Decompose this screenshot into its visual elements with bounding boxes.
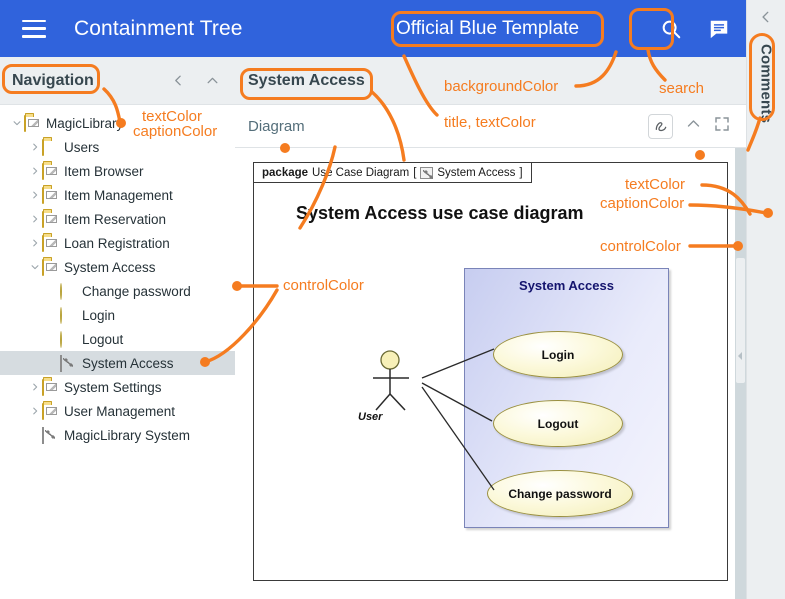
- actor-user-icon[interactable]: [369, 348, 425, 418]
- chevron-right-icon[interactable]: [28, 188, 42, 202]
- chevron-down-icon[interactable]: [28, 260, 42, 274]
- diagram-frame-header: package Use Case Diagram [ System Access…: [254, 163, 532, 183]
- chevron-right-icon[interactable]: [28, 404, 42, 418]
- annotation-label: captionColor: [600, 195, 684, 212]
- tree-item[interactable]: Item Browser: [0, 159, 235, 183]
- tree-item[interactable]: System Access: [0, 351, 235, 375]
- frame-type: Use Case Diagram: [312, 167, 409, 179]
- tree-item-label: Logout: [82, 332, 123, 347]
- tree-item-label: System Access: [82, 356, 174, 371]
- containment-tree[interactable]: MagicLibraryUsersItem BrowserItem Manage…: [0, 105, 235, 447]
- actor-label: User: [358, 411, 382, 423]
- chevron-right-icon[interactable]: [28, 380, 42, 394]
- chevron-right-icon[interactable]: [28, 236, 42, 250]
- diagram-heading: System Access use case diagram: [296, 203, 584, 224]
- chevron-up-icon[interactable]: [199, 68, 225, 94]
- use-case-ellipse[interactable]: Logout: [493, 400, 623, 447]
- scribble-pen-icon[interactable]: [648, 114, 673, 139]
- diagram-icon: [42, 428, 59, 443]
- app-root: Containment Tree Official Blue Template: [0, 0, 785, 599]
- chevron-right-icon[interactable]: [28, 212, 42, 226]
- tree-item[interactable]: Change password: [0, 279, 235, 303]
- pill-search: [629, 8, 674, 50]
- annotation-label: controlColor: [600, 238, 681, 255]
- tree-item-label: Item Management: [64, 188, 173, 203]
- tree-item[interactable]: Login: [0, 303, 235, 327]
- comment-bubble-icon[interactable]: [702, 12, 736, 46]
- tree-item-label: System Access: [64, 260, 156, 275]
- tree-item[interactable]: System Settings: [0, 375, 235, 399]
- package-folder-icon: [42, 212, 59, 227]
- frame-name: System Access: [437, 167, 515, 179]
- tree-item[interactable]: Loan Registration: [0, 231, 235, 255]
- package-folder-icon: [42, 380, 59, 395]
- tree-item-label: MagicLibrary System: [64, 428, 190, 443]
- chevron-left-icon[interactable]: [165, 68, 191, 94]
- frame-bracket-close: ]: [519, 167, 522, 179]
- tree-spacer: [46, 308, 60, 322]
- tree-spacer: [46, 356, 60, 370]
- package-folder-icon: [42, 236, 59, 251]
- tree-item-label: Login: [82, 308, 115, 323]
- use-case-ellipse[interactable]: Change password: [487, 470, 633, 517]
- tree-item[interactable]: User Management: [0, 399, 235, 423]
- fullscreen-icon[interactable]: [714, 116, 730, 137]
- tree-item[interactable]: Item Management: [0, 183, 235, 207]
- tree-item-label: Item Browser: [64, 164, 144, 179]
- diagram-panel: System Access Diagram: [235, 57, 746, 599]
- annotation-label: controlColor: [283, 277, 364, 294]
- pill-system-access: [240, 68, 373, 100]
- diagram-scrollbar[interactable]: [735, 148, 746, 599]
- collapse-arrow-icon[interactable]: [737, 348, 744, 366]
- tree-item[interactable]: Item Reservation: [0, 207, 235, 231]
- package-folder-icon: [42, 404, 59, 419]
- use-case-icon: [60, 308, 77, 323]
- use-case-ellipse[interactable]: Login: [493, 331, 623, 378]
- page-title: Containment Tree: [74, 17, 243, 41]
- tree-item[interactable]: System Access: [0, 255, 235, 279]
- chevron-up-icon[interactable]: [686, 116, 701, 136]
- tree-item-label: Item Reservation: [64, 212, 166, 227]
- frame-bracket-open: [: [413, 167, 416, 179]
- frame-keyword: package: [262, 167, 308, 179]
- tree-item-label: User Management: [64, 404, 175, 419]
- chevron-down-icon[interactable]: [10, 116, 24, 130]
- tree-spacer: [28, 428, 42, 442]
- chevron-right-icon[interactable]: [28, 164, 42, 178]
- pill-comments: [749, 33, 775, 121]
- pill-navigation: [2, 64, 100, 94]
- tree-item-label: System Settings: [64, 380, 162, 395]
- annotation-label: title, textColor: [444, 114, 536, 131]
- tree-item[interactable]: MagicLibrary System: [0, 423, 235, 447]
- tree-item[interactable]: Logout: [0, 327, 235, 351]
- system-boundary-title: System Access: [465, 278, 668, 293]
- hamburger-icon[interactable]: [22, 20, 46, 38]
- tree-item-label: Loan Registration: [64, 236, 170, 251]
- diagram-icon: [60, 356, 77, 371]
- tree-spacer: [46, 284, 60, 298]
- folder-icon: [42, 140, 59, 155]
- chevron-right-icon[interactable]: [28, 140, 42, 154]
- annotation-label: search: [659, 80, 704, 97]
- use-case-icon: [60, 284, 77, 299]
- tree-item-label: MagicLibrary: [46, 116, 123, 131]
- package-folder-icon: [24, 116, 41, 131]
- diagram-frame: package Use Case Diagram [ System Access…: [253, 162, 728, 581]
- package-folder-icon: [42, 164, 59, 179]
- pill-template: [391, 11, 604, 47]
- diagram-canvas[interactable]: package Use Case Diagram [ System Access…: [235, 148, 746, 599]
- tree-spacer: [46, 332, 60, 346]
- system-boundary[interactable]: System Access Login Logout Change passwo…: [464, 268, 669, 528]
- tree-item-label: Users: [64, 140, 99, 155]
- package-folder-icon: [42, 260, 59, 275]
- annotation-label: captionColor: [133, 123, 217, 140]
- package-folder-icon: [42, 188, 59, 203]
- chevron-left-icon[interactable]: [759, 10, 773, 29]
- annotation-label: textColor: [625, 176, 685, 193]
- annotation-label: backgroundColor: [444, 78, 558, 95]
- tree-item-label: Change password: [82, 284, 191, 299]
- tab-diagram[interactable]: Diagram: [248, 118, 305, 135]
- use-case-icon: [60, 332, 77, 347]
- diagram-icon: [420, 167, 433, 179]
